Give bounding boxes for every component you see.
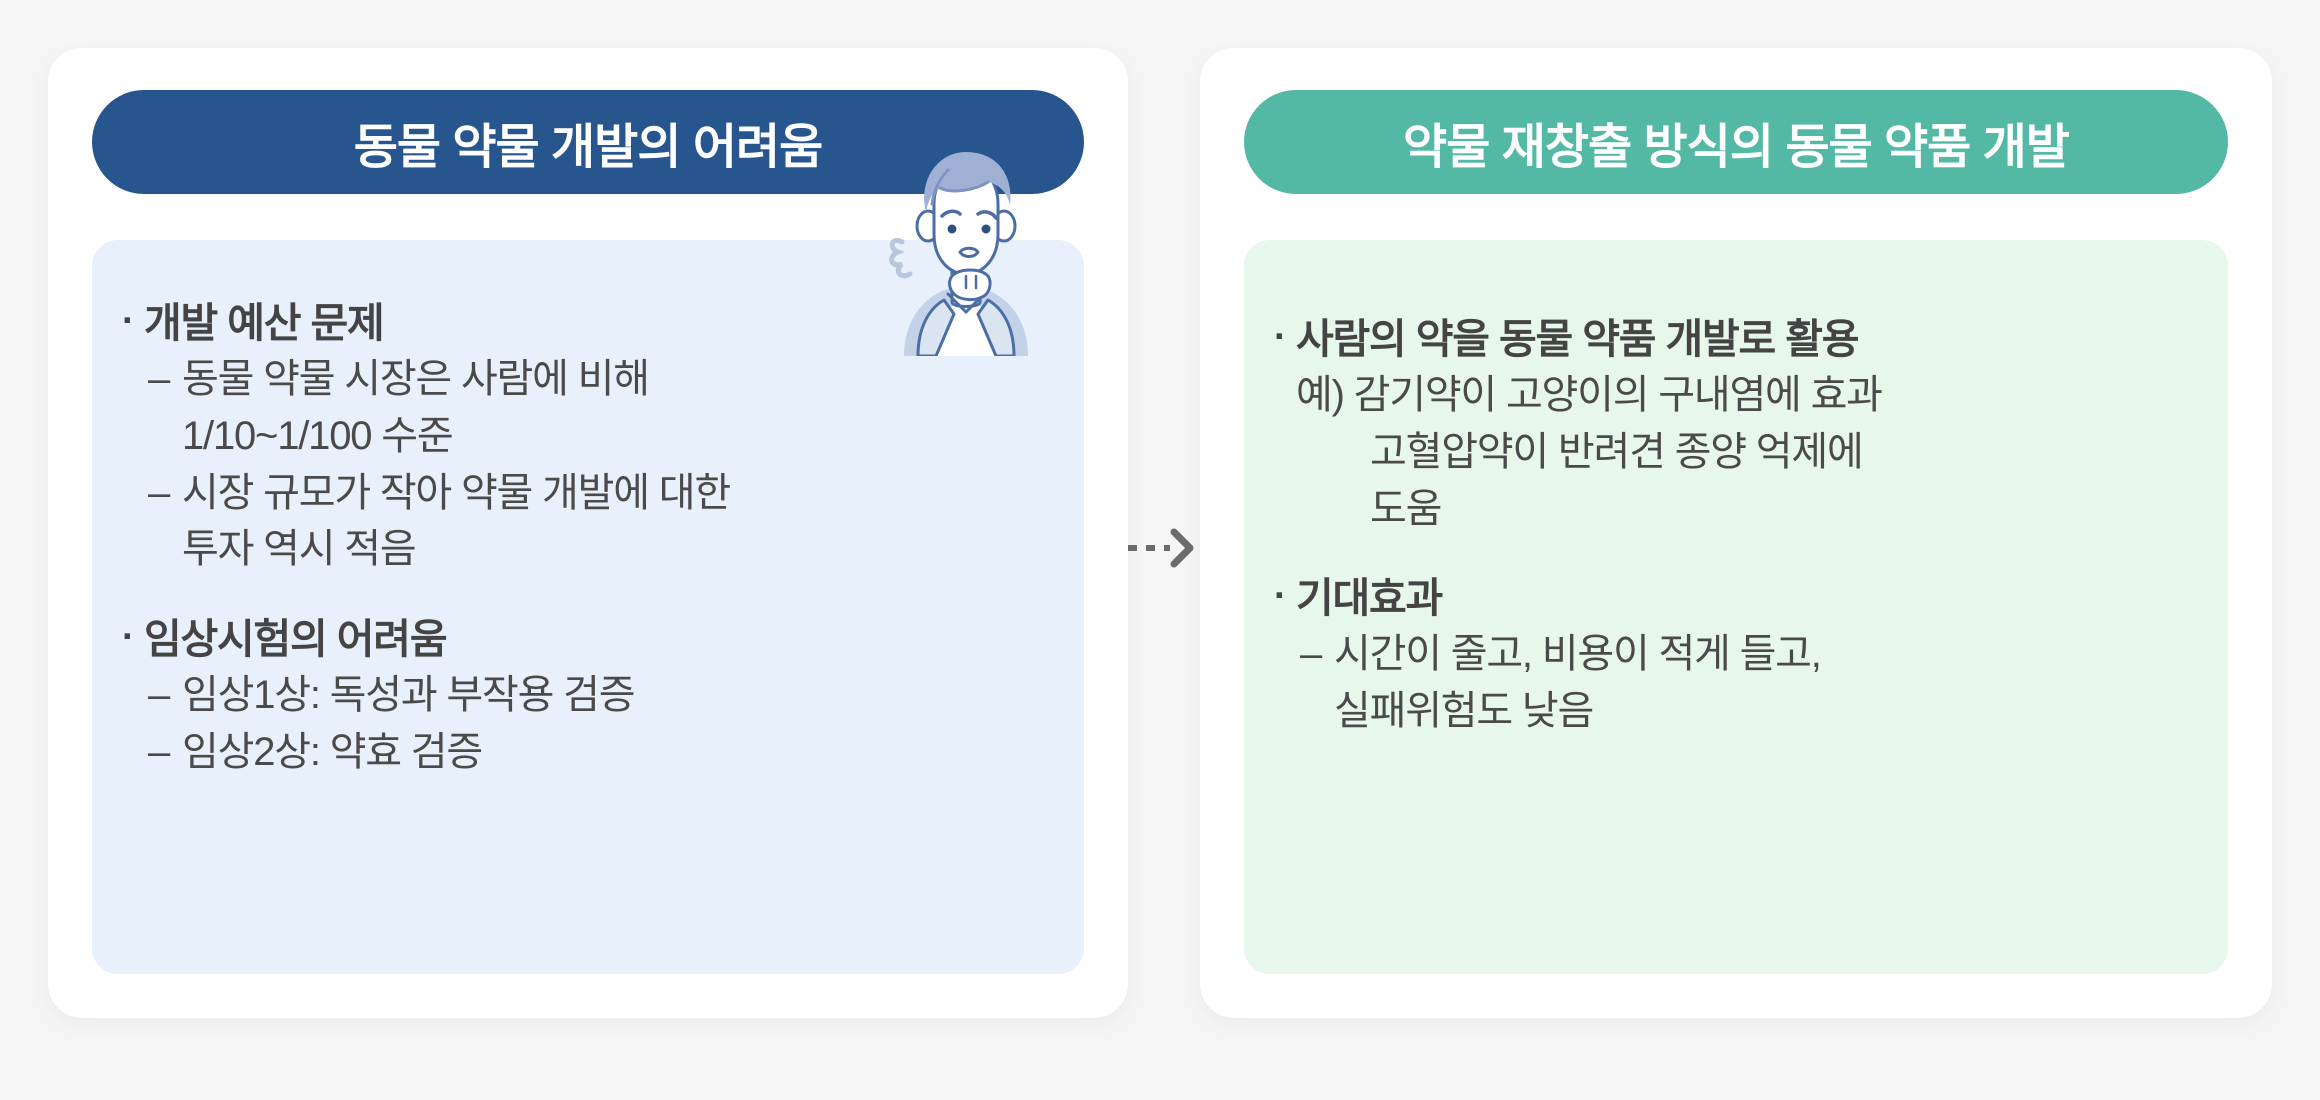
bullet-icon: · xyxy=(122,612,144,663)
dash-icon: – xyxy=(148,351,182,408)
left-group-0-item-0: – 동물 약물 시장은 사람에 비해 xyxy=(148,351,1044,408)
left-group-1-item-1: – 임상2상: 약효 검증 xyxy=(148,724,1044,781)
right-card-body: · 사람의 약을 동물 약품 개발로 활용 예) 감기약이 고양이의 구내염에 … xyxy=(1244,240,2228,974)
left-card-body: · 개발 예산 문제 – 동물 약물 시장은 사람에 비해 1/10~1/100… xyxy=(92,240,1084,974)
dash-icon: – xyxy=(148,724,182,781)
dash-icon: – xyxy=(148,667,182,724)
bullet-icon: · xyxy=(122,296,144,347)
left-group-0-heading: · 개발 예산 문제 xyxy=(122,296,1044,351)
left-group-1-item-0: – 임상1상: 독성과 부작용 검증 xyxy=(148,667,1044,724)
left-group-1-heading: · 임상시험의 어려움 xyxy=(122,612,1044,667)
right-group-1-heading: · 기대효과 xyxy=(1274,571,2188,626)
right-group-0-heading-text: 사람의 약을 동물 약품 개발로 활용 xyxy=(1296,312,1858,367)
left-group-1-heading-text: 임상시험의 어려움 xyxy=(144,612,446,667)
right-card-title-pill: 약물 재창출 방식의 동물 약품 개발 xyxy=(1244,90,2228,194)
right-group-0: · 사람의 약을 동물 약품 개발로 활용 예) 감기약이 고양이의 구내염에 … xyxy=(1274,312,2188,537)
right-group-0-example-2: 도움 xyxy=(1370,481,2188,538)
left-group-1: · 임상시험의 어려움 – 임상1상: 독성과 부작용 검증 – 임상2상: 약… xyxy=(122,612,1044,781)
left-card-title: 동물 약물 개발의 어려움 xyxy=(354,107,823,177)
right-group-0-heading: · 사람의 약을 동물 약품 개발로 활용 xyxy=(1274,312,2188,367)
left-group-0-item-1-line-0: 시장 규모가 작아 약물 개발에 대한 xyxy=(182,465,730,522)
left-group-0-item-0-line-0: 동물 약물 시장은 사람에 비해 xyxy=(182,351,649,408)
right-group-1-item-0: – 시간이 줄고, 비용이 적게 들고, xyxy=(1300,626,2188,683)
left-card-title-pill: 동물 약물 개발의 어려움 xyxy=(92,90,1084,194)
left-card: 동물 약물 개발의 어려움 xyxy=(48,48,1128,1018)
right-group-1-item-0-line-1: 실패위험도 낮음 xyxy=(1334,683,2188,740)
left-group-0-item-1-line-1: 투자 역시 적음 xyxy=(182,521,1044,578)
right-card: 약물 재창출 방식의 동물 약품 개발 · 사람의 약을 동물 약품 개발로 활… xyxy=(1200,48,2272,1018)
left-group-0: · 개발 예산 문제 – 동물 약물 시장은 사람에 비해 1/10~1/100… xyxy=(122,296,1044,578)
dashed-arrow-right-icon xyxy=(1124,518,1200,578)
left-group-0-item-1: – 시장 규모가 작아 약물 개발에 대한 xyxy=(148,465,1044,522)
left-group-0-item-0-line-1: 1/10~1/100 수준 xyxy=(182,408,1044,465)
right-group-0-example-0: 예) 감기약이 고양이의 구내염에 효과 xyxy=(1296,367,2188,424)
left-group-0-heading-text: 개발 예산 문제 xyxy=(144,296,384,351)
left-group-1-item-1-line-0: 임상2상: 약효 검증 xyxy=(182,724,482,781)
dash-icon: – xyxy=(148,465,182,522)
dash-icon: – xyxy=(1300,626,1334,683)
right-group-1: · 기대효과 – 시간이 줄고, 비용이 적게 들고, 실패위험도 낮음 xyxy=(1274,571,2188,740)
right-group-1-heading-text: 기대효과 xyxy=(1296,571,1442,626)
right-group-1-item-0-line-0: 시간이 줄고, 비용이 적게 들고, xyxy=(1334,626,1821,683)
right-card-title: 약물 재창출 방식의 동물 약품 개발 xyxy=(1403,107,2069,177)
bullet-icon: · xyxy=(1274,571,1296,622)
right-group-0-example-1: 고혈압약이 반려견 종양 억제에 xyxy=(1370,424,2188,481)
bullet-icon: · xyxy=(1274,312,1296,363)
left-group-1-item-0-line-0: 임상1상: 독성과 부작용 검증 xyxy=(182,667,634,724)
slide-canvas: 동물 약물 개발의 어려움 xyxy=(0,0,2320,1100)
